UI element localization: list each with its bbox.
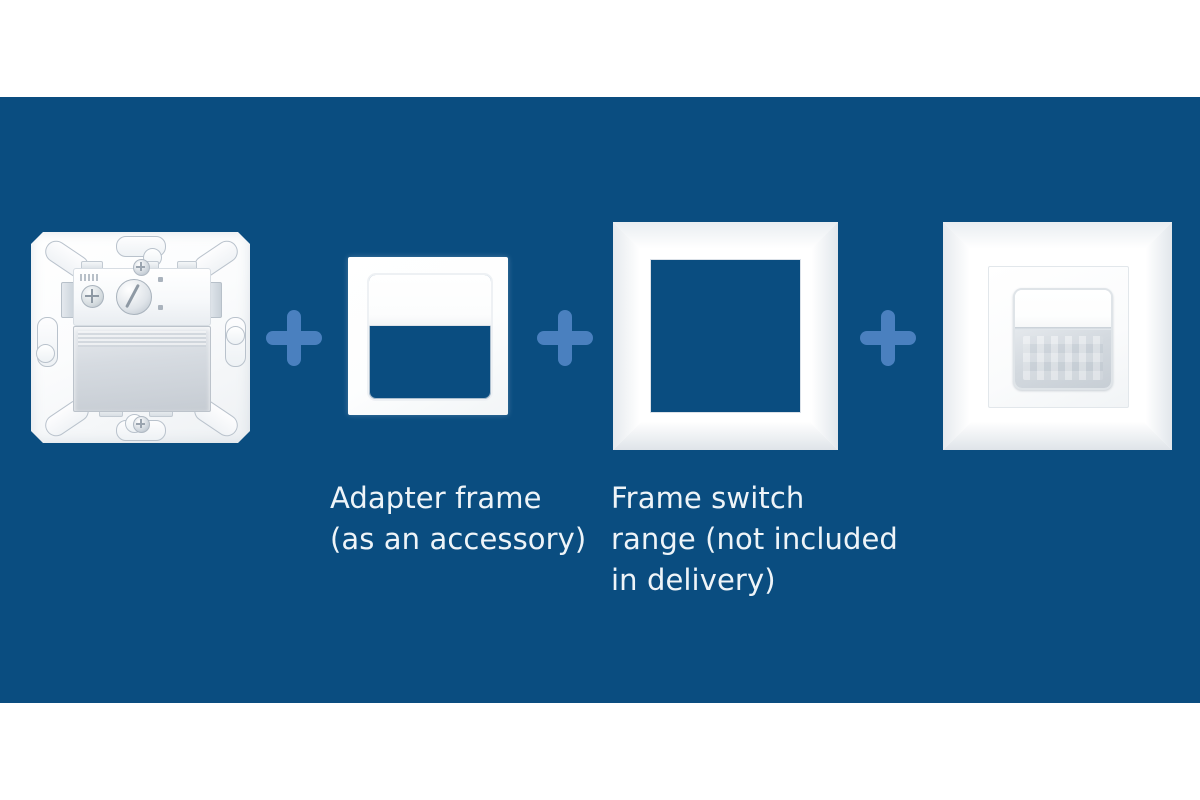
assembled-adapter-frame [988,266,1129,408]
plus-bar-vertical [881,310,895,366]
product-insert [31,232,250,443]
adapter-frame-label-band [369,275,491,326]
housing-ribbing [78,331,206,347]
adjustment-knob-icon [81,285,104,308]
plus-bar-vertical [287,310,301,366]
product-adapter-frame [348,257,508,415]
frame-bevel-top [613,222,838,260]
screw-icon-bottom [133,416,150,433]
screw-icon-top [133,259,150,276]
keyhole-bulb-right [226,326,245,345]
assembled-frame-bevel-right [1134,222,1172,450]
mounting-plate [31,232,250,443]
assembled-frame-bevel-top [943,222,1172,260]
sensor-lens-grid [1023,336,1103,380]
dial-notch-icon [125,284,140,308]
keyhole-bulb-left [36,344,55,363]
frame-bevel-bottom [613,412,838,450]
product-assembled-switch [943,222,1172,450]
housing-marker-2 [158,305,163,310]
plus-separator-2 [537,310,593,366]
insert-lower-housing [73,326,211,412]
plus-separator-1 [266,310,322,366]
assembled-frame-bevel-bottom [943,412,1172,450]
caption-switch-frame: Frame switch range (not included in deli… [611,478,911,601]
plus-separator-3 [860,310,916,366]
scene-root: Adapter frame (as an accessory) Frame sw… [0,0,1200,800]
switch-frame-aperture [651,260,800,412]
terminal-marking [80,274,98,281]
insert-upper-housing [73,268,211,326]
assembled-frame-bevel-left [943,222,981,450]
sensor-lens-panel [1015,330,1111,388]
frame-bevel-right [800,222,838,450]
sensor-label-band [1015,290,1111,327]
bevel-frame [613,222,838,450]
frame-bevel-left [613,222,651,450]
plus-bar-vertical [558,310,572,366]
assembled-sensor-module [1013,288,1113,390]
potentiometer-dial-icon [116,279,152,315]
housing-marker-1 [158,277,163,282]
product-switch-frame [613,222,838,450]
adapter-frame-aperture [367,273,493,401]
caption-adapter-frame: Adapter frame (as an accessory) [330,478,630,560]
insert-body [73,268,209,410]
